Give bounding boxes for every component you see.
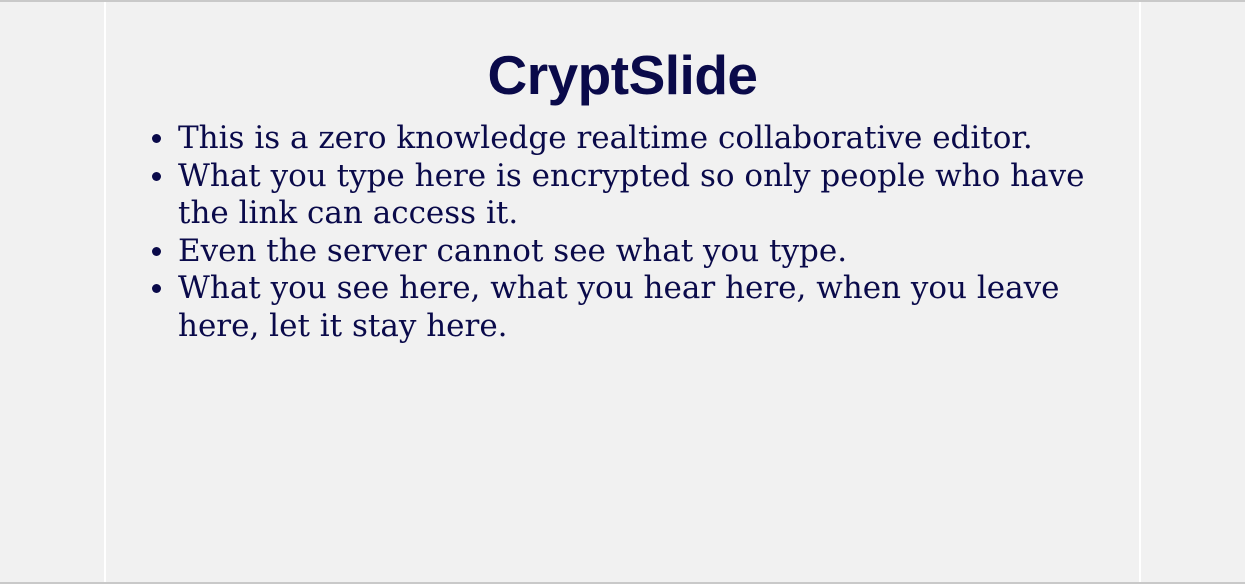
- bullet-dot-icon: [152, 172, 161, 181]
- bullet-dot-icon: [152, 134, 161, 143]
- bullet-text[interactable]: This is a zero knowledge realtime collab…: [178, 120, 1132, 158]
- bullet-dot-icon: [152, 284, 161, 293]
- slide-right-frame-rule: [1139, 2, 1141, 582]
- slide-title[interactable]: CryptSlide: [106, 44, 1139, 106]
- slide-viewport: CryptSlide This is a zero knowledge real…: [0, 0, 1245, 584]
- list-item[interactable]: What you see here, what you hear here, w…: [142, 270, 1132, 345]
- list-item[interactable]: This is a zero knowledge realtime collab…: [142, 120, 1132, 158]
- bullet-text[interactable]: What you see here, what you hear here, w…: [178, 270, 1132, 345]
- bullet-text[interactable]: What you type here is encrypted so only …: [178, 158, 1132, 233]
- slide-bullet-list[interactable]: This is a zero knowledge realtime collab…: [142, 120, 1132, 346]
- slide-canvas[interactable]: CryptSlide This is a zero knowledge real…: [106, 2, 1139, 582]
- list-item[interactable]: Even the server cannot see what you type…: [142, 233, 1132, 271]
- bullet-dot-icon: [152, 247, 161, 256]
- list-item[interactable]: What you type here is encrypted so only …: [142, 158, 1132, 233]
- bullet-text[interactable]: Even the server cannot see what you type…: [178, 233, 1132, 271]
